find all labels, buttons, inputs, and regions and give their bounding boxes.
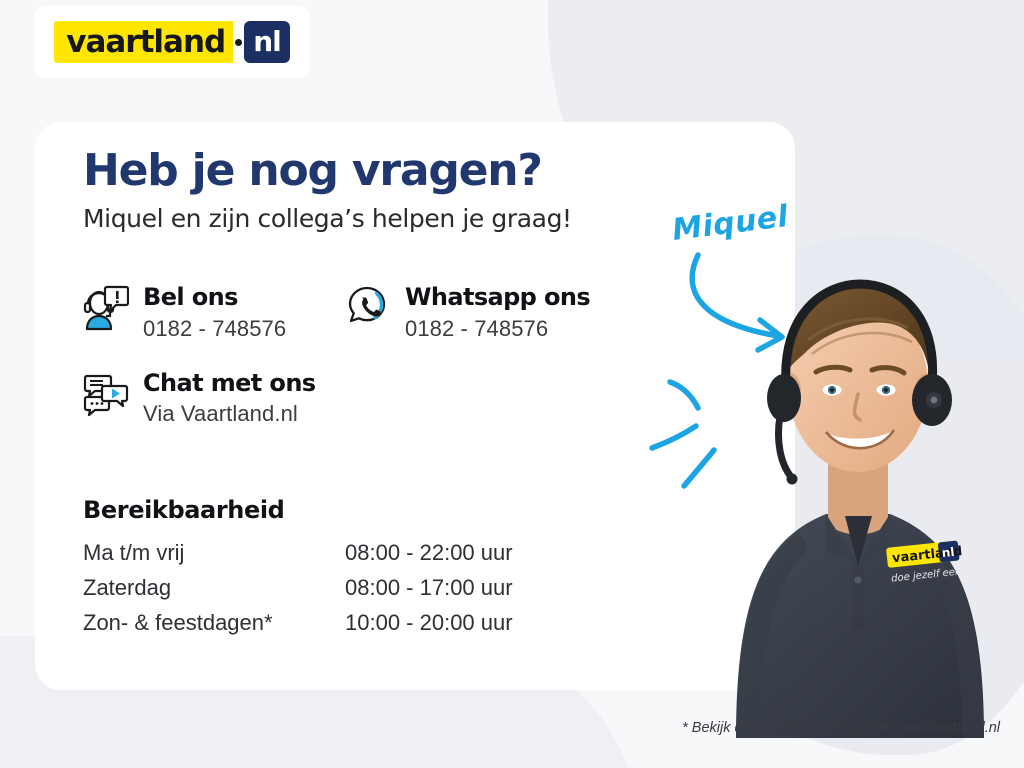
opening-hours-day: Ma t/m vrij bbox=[83, 540, 345, 566]
opening-hours-row: Ma t/m vrij 08:00 - 22:00 uur bbox=[83, 540, 643, 566]
opening-hours-title: Bereikbaarheid bbox=[83, 496, 643, 524]
hero-text: Heb je nog vragen? Miquel en zijn colleg… bbox=[83, 148, 683, 233]
opening-hours-day: Zaterdag bbox=[83, 575, 345, 601]
headset-person-icon bbox=[83, 284, 129, 334]
footnote: * Bekijk de actuele openingstijden op Va… bbox=[682, 720, 1000, 736]
opening-hours-day: Zon- & feestdagen* bbox=[83, 610, 345, 636]
page-subtitle: Miquel en zijn collega’s helpen je graag… bbox=[83, 204, 683, 233]
contact-banner: vaartland nl Heb je nog vragen? Miquel e… bbox=[0, 0, 1024, 768]
svg-text:nl: nl bbox=[941, 545, 955, 560]
contact-item-call[interactable]: Bel ons 0182 - 748576 bbox=[83, 282, 345, 342]
logo-tld: nl bbox=[253, 28, 281, 56]
opening-hours-time: 10:00 - 20:00 uur bbox=[345, 610, 513, 636]
opening-hours-row: Zaterdag 08:00 - 17:00 uur bbox=[83, 575, 643, 601]
logo-wordmark-block: vaartland bbox=[54, 21, 233, 63]
opening-hours-row: Zon- & feestdagen* 10:00 - 20:00 uur bbox=[83, 610, 643, 636]
contact-value-call[interactable]: 0182 - 748576 bbox=[143, 316, 286, 342]
logo-tld-block: nl bbox=[244, 21, 290, 63]
contact-title-chat: Chat met ons bbox=[143, 369, 316, 397]
opening-hours-time: 08:00 - 17:00 uur bbox=[345, 575, 513, 601]
opening-hours: Bereikbaarheid Ma t/m vrij 08:00 - 22:00… bbox=[83, 496, 643, 645]
page-title: Heb je nog vragen? bbox=[83, 148, 683, 194]
opening-hours-time: 08:00 - 22:00 uur bbox=[345, 540, 513, 566]
contact-title-whatsapp: Whatsapp ons bbox=[405, 283, 590, 311]
whatsapp-icon bbox=[345, 284, 391, 334]
logo-dot-icon bbox=[235, 39, 242, 46]
vaartland-logo[interactable]: vaartland nl bbox=[34, 6, 310, 78]
chat-bubbles-icon bbox=[83, 370, 129, 420]
contact-title-call: Bel ons bbox=[143, 283, 238, 311]
logo-wordmark: vaartland bbox=[66, 27, 225, 58]
contact-value-whatsapp[interactable]: 0182 - 748576 bbox=[405, 316, 590, 342]
contact-value-chat[interactable]: Via Vaartland.nl bbox=[143, 401, 316, 427]
